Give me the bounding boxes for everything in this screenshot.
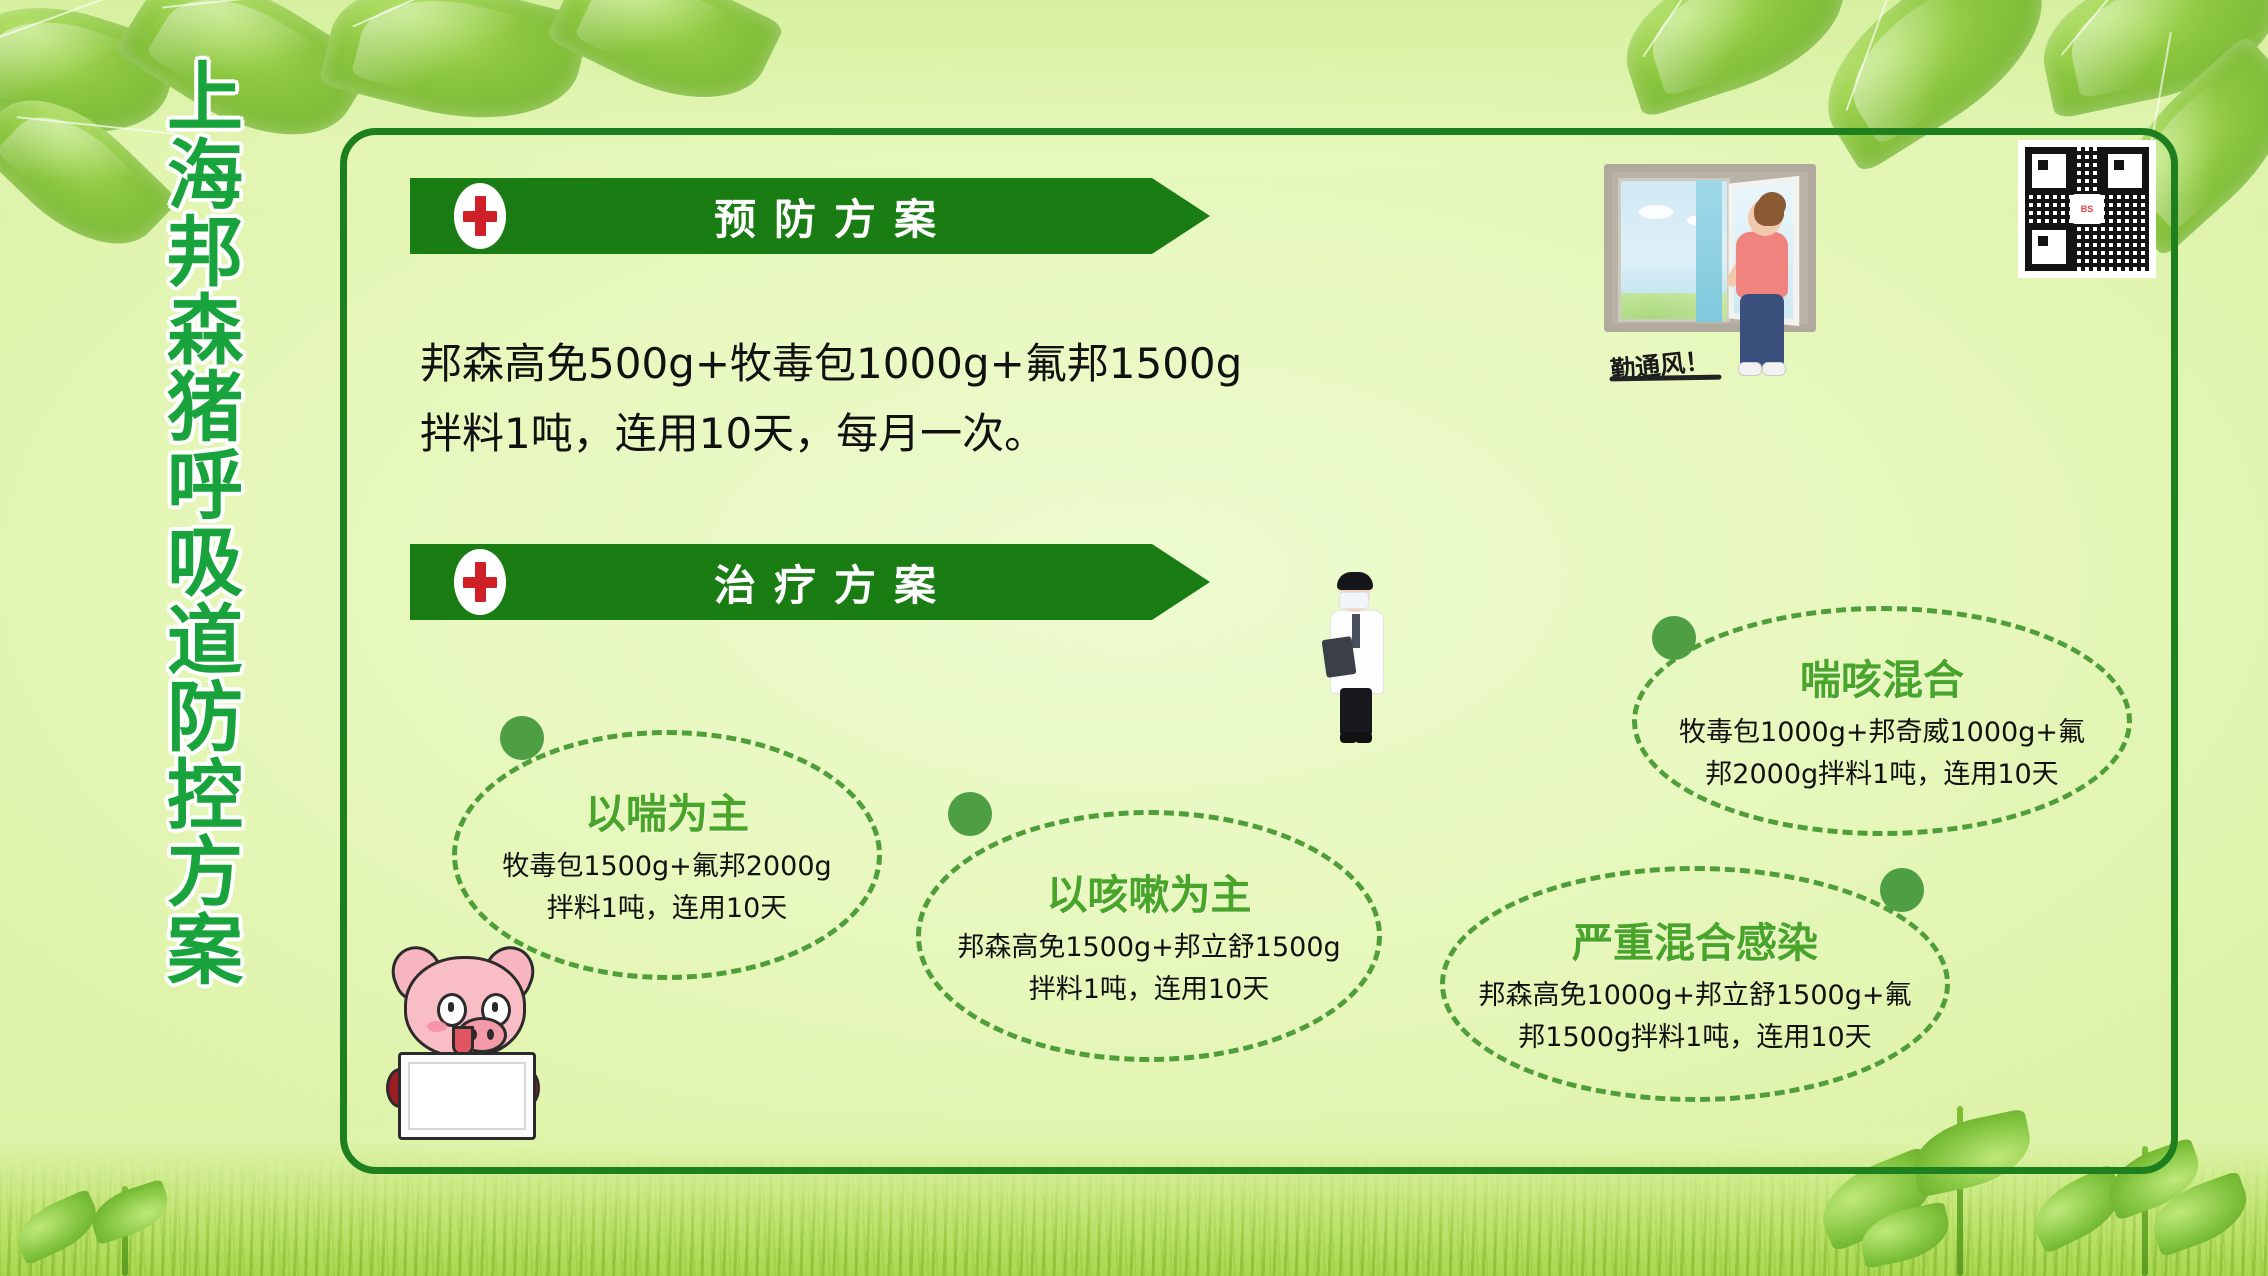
bubble-line: 邦森高免1000g+邦立舒1500g+氟 xyxy=(1479,975,1912,1017)
red-cross-icon xyxy=(454,549,506,615)
title-char: 方 xyxy=(167,835,243,913)
title-char: 海 xyxy=(167,138,243,216)
title-char: 防 xyxy=(167,680,243,758)
doctor-figure xyxy=(1322,564,1390,744)
pig-mascot xyxy=(390,940,536,1136)
red-cross-icon xyxy=(454,183,506,249)
blank-sign xyxy=(398,1052,536,1140)
bubble-line: 邦森高免1500g+邦立舒1500g xyxy=(957,927,1340,969)
title-char: 案 xyxy=(167,913,243,991)
title-char: 猪 xyxy=(167,370,243,448)
title-char: 吸 xyxy=(167,525,243,603)
treatment-bubble-2: 以咳嗽为主 邦森高免1500g+邦立舒1500g 拌料1吨，连用10天 xyxy=(916,810,1382,1062)
bubble-line: 邦1500g拌料1吨，连用10天 xyxy=(1518,1017,1871,1059)
title-char: 控 xyxy=(167,758,243,836)
qr-code[interactable]: BS xyxy=(2018,140,2156,278)
bubble-line: 拌料1吨，连用10天 xyxy=(547,888,788,930)
poster-root: 上 海 邦 森 猪 呼 吸 道 防 控 方 案 预防方案 邦森高免500g+牧毒… xyxy=(0,0,2268,1276)
title-char: 邦 xyxy=(167,215,243,293)
bubble-title: 喘咳混合 xyxy=(1800,646,1964,706)
bubble-line: 牧毒包1500g+氟邦2000g xyxy=(502,846,831,888)
prevention-line-2: 拌料1吨，连用10天，每月一次。 xyxy=(420,400,1046,468)
bubble-title: 以咳嗽为主 xyxy=(1047,861,1252,921)
sprout-icon xyxy=(60,1186,190,1276)
title-char: 道 xyxy=(167,603,243,681)
bubble-line: 牧毒包1000g+邦奇威1000g+氟 xyxy=(1679,712,2085,754)
clipboard-icon xyxy=(1322,636,1357,678)
prevention-line-1: 邦森高免500g+牧毒包1000g+氟邦1500g xyxy=(420,330,1242,398)
page-title: 上 海 邦 森 猪 呼 吸 道 防 控 方 案 xyxy=(150,60,260,990)
window-ventilation-illustration: 勤通风！ xyxy=(1596,150,1844,400)
title-char: 呼 xyxy=(167,448,243,526)
treatment-bubble-4: 严重混合感染 邦森高免1000g+邦立舒1500g+氟 邦1500g拌料1吨，连… xyxy=(1440,866,1950,1102)
caption-underline xyxy=(1609,375,1721,382)
bubble-line: 拌料1吨，连用10天 xyxy=(1029,969,1270,1011)
treatment-banner-label: 治疗方案 xyxy=(410,552,1210,613)
treatment-bubble-3: 喘咳混合 牧毒包1000g+邦奇威1000g+氟 邦2000g拌料1吨，连用10… xyxy=(1632,606,2132,836)
bubble-title: 以喘为主 xyxy=(585,780,749,840)
prevention-banner-label: 预防方案 xyxy=(410,186,1210,247)
window-caption: 勤通风！ xyxy=(1608,341,1711,387)
treatment-banner: 治疗方案 xyxy=(410,544,1210,620)
person-figure xyxy=(1714,190,1794,380)
bubble-title: 严重混合感染 xyxy=(1572,909,1818,969)
sprout-icon xyxy=(2210,1156,2268,1276)
title-char: 森 xyxy=(167,293,243,371)
bubble-line: 邦2000g拌料1吨，连用10天 xyxy=(1705,754,2058,796)
prevention-banner: 预防方案 xyxy=(410,178,1210,254)
qr-center-logo-icon: BS xyxy=(2070,194,2104,224)
title-char: 上 xyxy=(167,60,243,138)
